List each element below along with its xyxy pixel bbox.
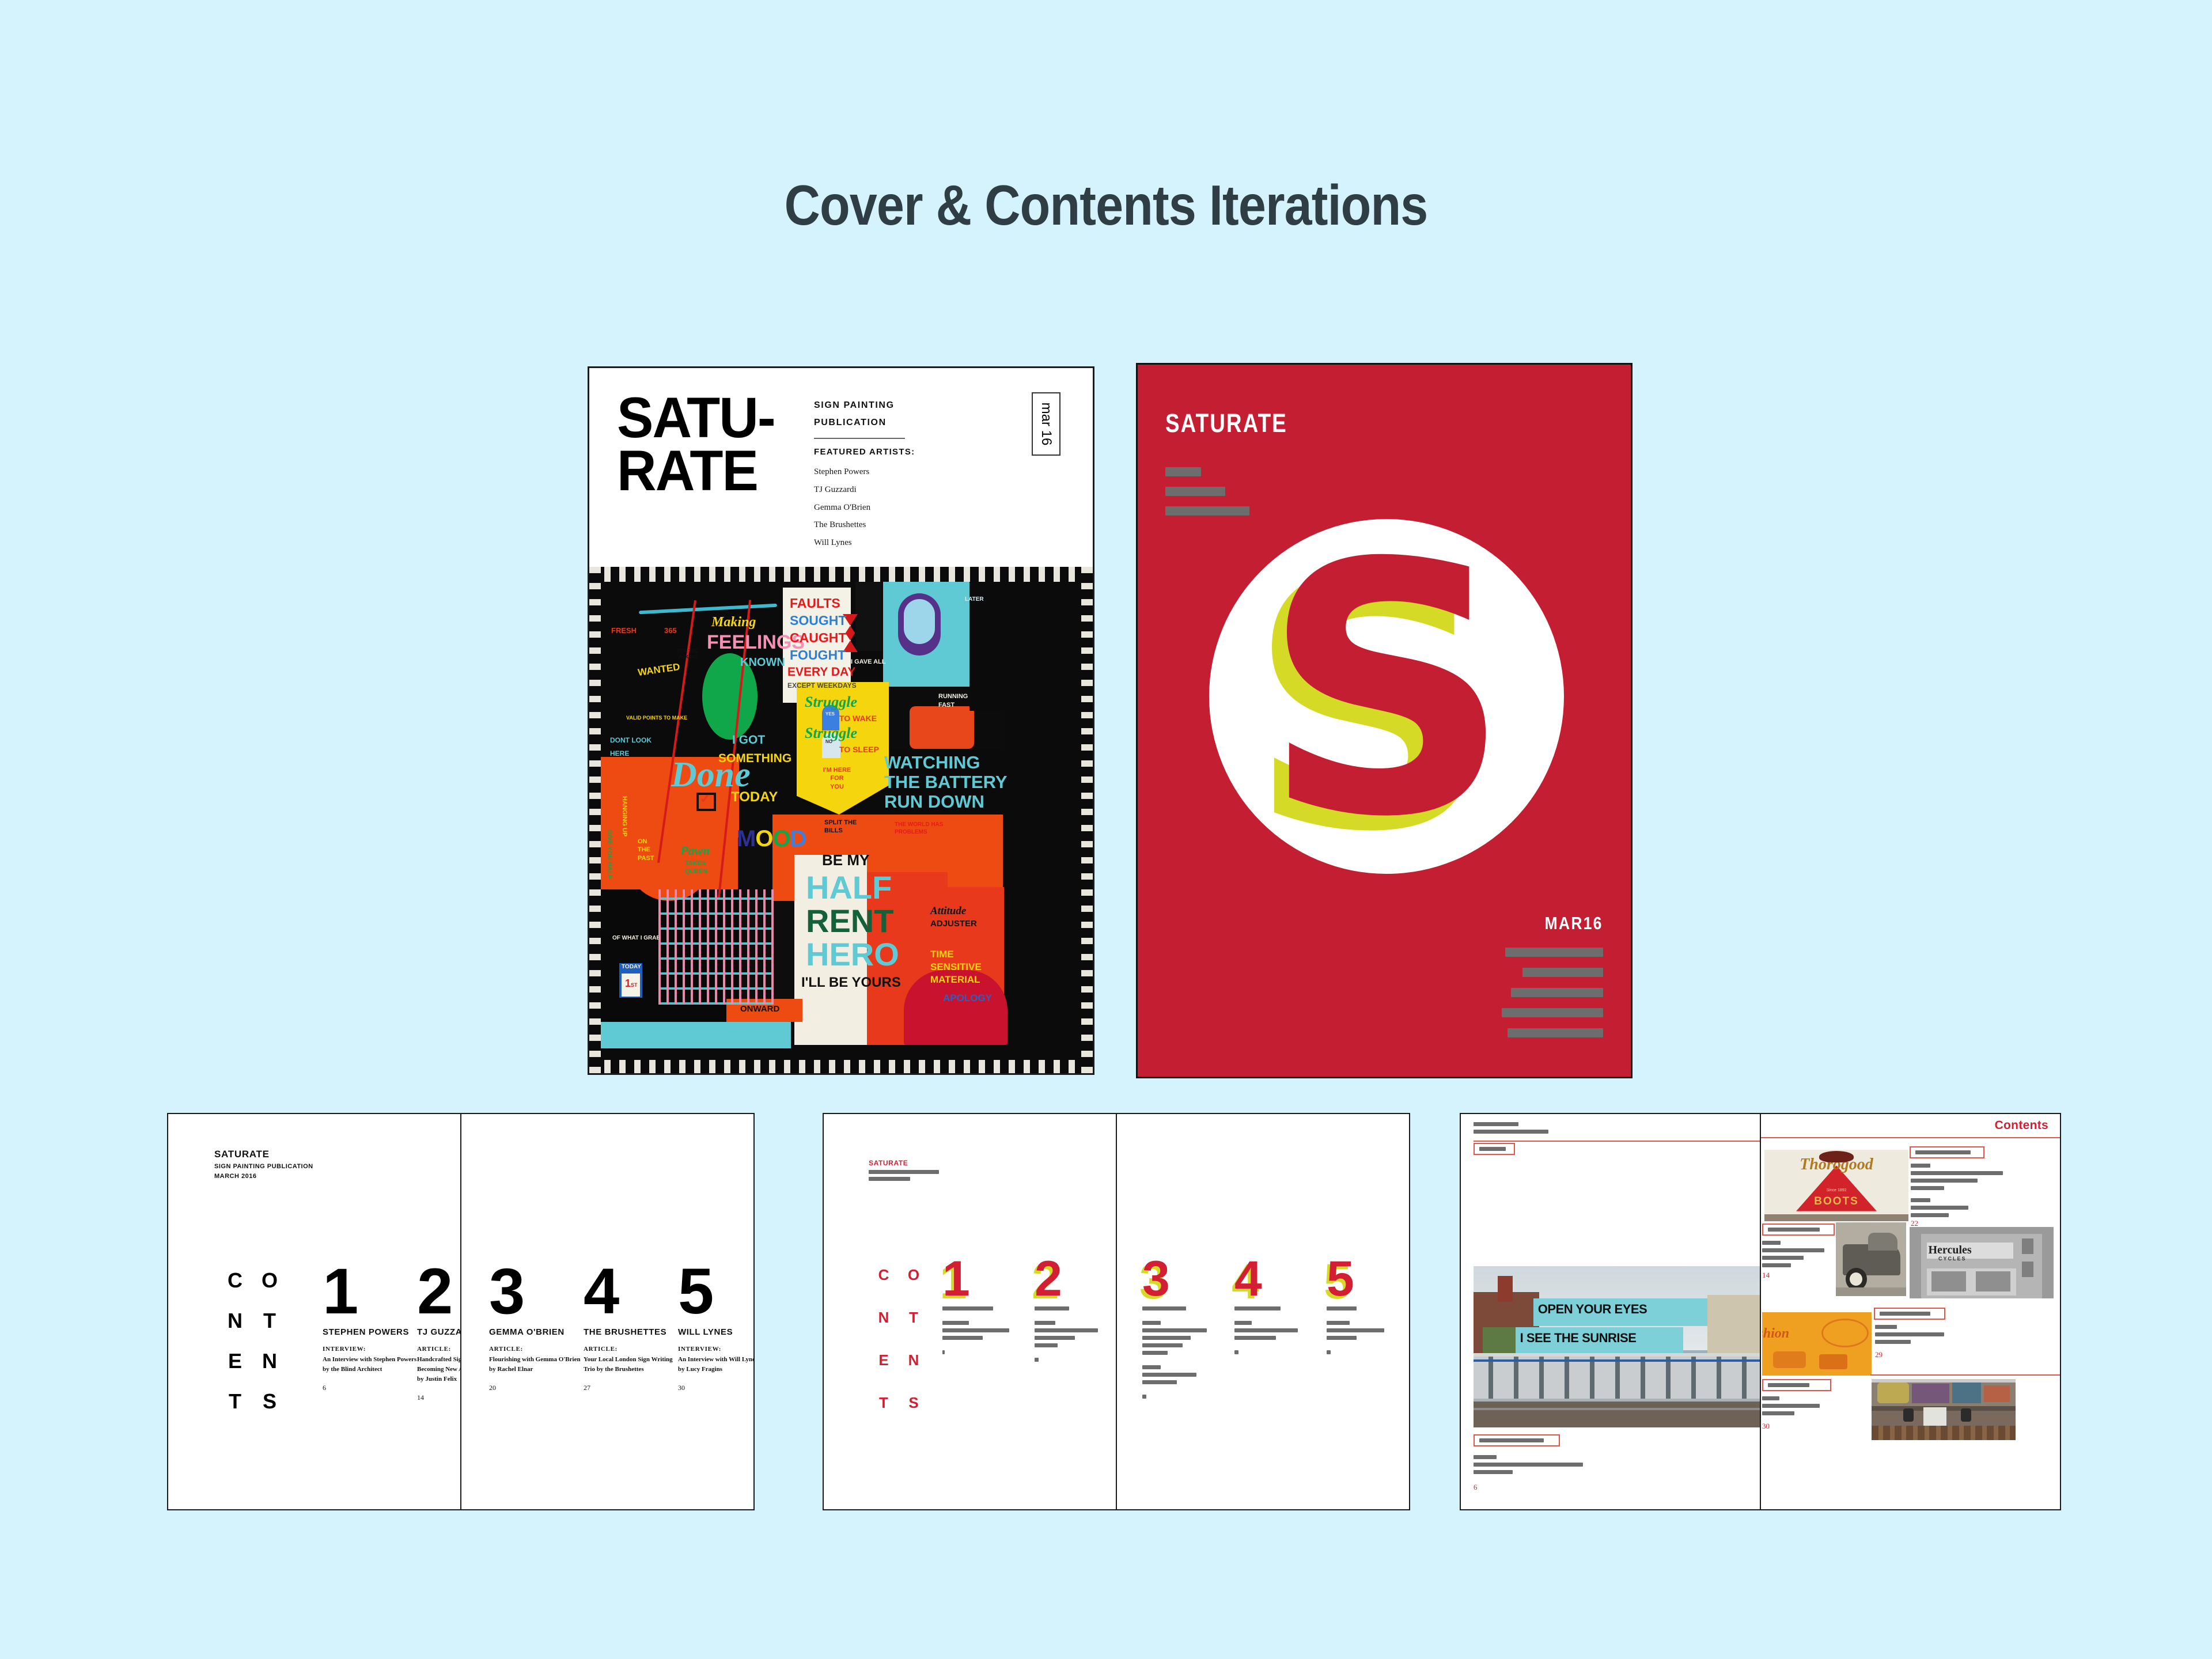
mural-text-line-1: OPEN YOUR EYES: [1538, 1302, 1647, 1317]
entry-placeholder-bars: [1035, 1306, 1117, 1362]
item-bars: [1762, 1241, 1824, 1271]
contents-letter: N: [218, 1309, 252, 1349]
entry-description: Flourishing with Gemma O'Brien by Rachel…: [489, 1355, 593, 1374]
spread-masthead: SATURATE SIGN PAINTING PUBLICATION MARCH…: [214, 1149, 313, 1180]
spread-two-left-page: SATURATE C O N T E N T S 1 2: [824, 1114, 1117, 1509]
entry-number: 3: [1142, 1258, 1246, 1301]
section-red-rule: [1870, 1374, 2060, 1376]
entry-description: An Interview with Will Lynes by Lucy Fra…: [678, 1355, 753, 1374]
item-label-box[interactable]: [1762, 1379, 1831, 1391]
artist-name: Will Lynes: [814, 534, 941, 552]
contents-entry[interactable]: 4 THE BRUSHETTES ARTICLE: Your Local Lon…: [584, 1264, 687, 1392]
photo-graffiti-wall: [1872, 1379, 2016, 1440]
contents-letter: E: [218, 1349, 252, 1389]
item-bars: [1911, 1164, 2003, 1221]
date-badge: mar 16: [1032, 392, 1060, 456]
page-number: 29: [1875, 1350, 1883, 1359]
featured-artists-label: FEATURED ARTISTS:: [814, 447, 941, 457]
page-title: Cover & Contents Iterations: [132, 173, 2079, 238]
hercules-sub: CYCLES: [1938, 1256, 1967, 1262]
spread-two-masthead: SATURATE: [869, 1159, 939, 1181]
contents-spread-red-wireframe[interactable]: SATURATE C O N T E N T S 1 2: [823, 1113, 1410, 1510]
entry-number: 5: [678, 1264, 753, 1319]
entry-number: 2: [417, 1264, 461, 1319]
entry-placeholder-bars: [942, 1306, 1046, 1354]
kicker-line-2: PUBLICATION: [814, 414, 941, 431]
entry-page-number: 14: [417, 1393, 461, 1402]
entry-name: TJ GUZZARDI: [417, 1327, 461, 1337]
mural-text-line-2: I SEE THE SUNRISE: [1520, 1331, 1637, 1346]
contents-entry[interactable]: 2: [1035, 1258, 1117, 1365]
photo-hercules-cycles-building: Hercules CYCLES: [1910, 1227, 2054, 1298]
hercules-text: Hercules: [1929, 1244, 1972, 1257]
entry-description: An Interview with Stephen Powers by the …: [323, 1355, 426, 1374]
entry-placeholder-bars: [1327, 1306, 1409, 1354]
entry-page-number: 20: [489, 1384, 593, 1392]
contents-letter: T: [218, 1389, 252, 1430]
boots-label: BOOTS: [1764, 1195, 1908, 1208]
contents-entry[interactable]: 4: [1234, 1258, 1338, 1358]
spread-two-right-page: 3 4 5: [1117, 1114, 1409, 1509]
artist-name: TJ Guzzardi: [814, 481, 941, 499]
contents-entry[interactable]: 3 GEMMA O'BRIEN ARTICLE: Flourishing wit…: [489, 1264, 593, 1392]
entry-description: Your Local London Sign Writing Trio by t…: [584, 1355, 687, 1374]
meta-divider: [814, 438, 905, 439]
contents-letter: C: [218, 1268, 252, 1309]
spread-one-right-page: 3 GEMMA O'BRIEN ARTICLE: Flourishing wit…: [461, 1114, 753, 1509]
contents-entry[interactable]: 3: [1142, 1258, 1246, 1402]
contents-entry[interactable]: 1: [942, 1258, 1046, 1358]
page-number: 14: [1762, 1271, 1770, 1280]
page-number: 30: [1762, 1422, 1770, 1431]
masthead-date: MARCH 2016: [214, 1173, 313, 1180]
contents-letter: S: [252, 1389, 287, 1430]
masthead-subtitle: SIGN PAINTING PUBLICATION: [214, 1163, 313, 1170]
entry-page-number: 27: [584, 1384, 687, 1392]
contents-letter: T: [869, 1394, 899, 1437]
entry-kind: ARTICLE:: [489, 1346, 593, 1353]
wordmark-line-1: SATU-: [617, 391, 775, 444]
photo-vintage-truck: [1836, 1222, 1906, 1296]
header-red-rule: [1474, 1141, 1761, 1142]
contents-letter: T: [252, 1309, 287, 1349]
photo-thorogood-boots-sign: Thorogood BOOTS Since 1892: [1764, 1150, 1908, 1221]
spread-three-right-page: Contents Thorogood BOOTS Since 1892 22: [1761, 1114, 2060, 1509]
masthead-title: SATURATE: [214, 1149, 313, 1160]
masthead-meta: SIGN PAINTING PUBLICATION FEATURED ARTIS…: [814, 397, 941, 552]
page-number: 6: [1474, 1483, 1478, 1492]
item-bars: [1875, 1325, 1944, 1347]
logo-circle: S: [1209, 519, 1564, 874]
spread-three-left-page: OPEN YOUR EYES I SEE THE SUNRISE 6: [1461, 1114, 1761, 1509]
section-label-box[interactable]: [1474, 1143, 1515, 1155]
contents-letter-grid: C O N T E N T S: [869, 1266, 929, 1437]
entry-number: 4: [1234, 1258, 1338, 1301]
entry-name: THE BRUSHETTES: [584, 1327, 687, 1337]
entry-number: 4: [584, 1264, 687, 1319]
cover-two-date-badge: MAR16: [1545, 913, 1603, 934]
entry-name: STEPHEN POWERS: [323, 1327, 426, 1337]
contents-entry[interactable]: 5 WILL LYNES INTERVIEW: An Interview wit…: [678, 1264, 753, 1392]
contents-letter: C: [869, 1266, 899, 1309]
artist-name: Stephen Powers: [814, 463, 941, 481]
wordmark-line-2: RATE: [617, 444, 775, 497]
entry-placeholder-bars: [1142, 1306, 1246, 1399]
contents-letter: N: [252, 1349, 287, 1389]
mural-collage-photo: FRESH 365 FOR THE ASKING Making FEELINGS…: [589, 567, 1093, 1075]
entry-description: Handcrafted Signs: Vintage Art Becoming …: [417, 1355, 461, 1384]
cover-two-top-placeholder-bars: [1165, 467, 1249, 526]
contents-entry[interactable]: 1 STEPHEN POWERS INTERVIEW: An Interview…: [323, 1264, 426, 1392]
spread-one-left-page: SATURATE SIGN PAINTING PUBLICATION MARCH…: [168, 1114, 461, 1509]
entry-placeholder-bars: [1234, 1306, 1338, 1354]
entry-number: 5: [1327, 1258, 1409, 1301]
entry-page-number: 30: [678, 1384, 753, 1392]
artist-name: The Brushettes: [814, 516, 941, 534]
entry-name: WILL LYNES: [678, 1327, 753, 1337]
contents-heading: Contents: [1995, 1119, 2048, 1132]
entry-name: GEMMA O'BRIEN: [489, 1327, 593, 1337]
entry-number: 3: [489, 1264, 593, 1319]
item-bars: [1762, 1396, 1820, 1419]
entry-page-number: 6: [323, 1384, 426, 1392]
cover-masthead: SATU- RATE SIGN PAINTING PUBLICATION FEA…: [589, 368, 1093, 567]
contents-letter: E: [869, 1351, 899, 1394]
left-page-bottom-bars: [1474, 1455, 1583, 1478]
contents-entry[interactable]: 5: [1327, 1258, 1409, 1358]
contents-letter: O: [899, 1266, 929, 1309]
contents-spread-typographic[interactable]: SATURATE SIGN PAINTING PUBLICATION MARCH…: [167, 1113, 755, 1510]
entry-kind: ARTICLE:: [417, 1346, 461, 1353]
contents-letter: S: [899, 1394, 929, 1437]
entry-number: 2: [1035, 1258, 1117, 1301]
item-label-box[interactable]: [1874, 1308, 1945, 1320]
photo-orange-fashion-poster: shion: [1762, 1312, 1872, 1376]
entry-number: 1: [323, 1264, 426, 1319]
contents-letter: N: [899, 1351, 929, 1394]
contents-entry[interactable]: 2 TJ GUZZARDI ARTICLE: Handcrafted Signs…: [417, 1264, 461, 1402]
contents-letter-grid: C O N T E N T S: [218, 1268, 287, 1430]
fashion-text: shion: [1762, 1326, 1789, 1342]
cover-wordmark: SATU- RATE: [617, 391, 775, 497]
entry-kind: INTERVIEW:: [323, 1346, 426, 1353]
photo-caption-box[interactable]: [1474, 1434, 1560, 1446]
item-label-box[interactable]: [1910, 1146, 1984, 1158]
masthead-title: SATURATE: [869, 1159, 939, 1167]
entry-kind: INTERVIEW:: [678, 1346, 753, 1353]
entry-kind: ARTICLE:: [584, 1346, 687, 1353]
kicker-line-1: SIGN PAINTING: [814, 397, 941, 414]
cover-iteration-white[interactable]: SATU- RATE SIGN PAINTING PUBLICATION FEA…: [588, 366, 1094, 1075]
artist-name: Gemma O'Brien: [814, 499, 941, 517]
cover-two-wordmark: SATURATE: [1165, 408, 1287, 438]
entry-number: 1: [942, 1258, 1046, 1301]
contents-letter: N: [869, 1309, 899, 1351]
left-page-top-bars: [1474, 1122, 1548, 1137]
contents-letter: T: [899, 1309, 929, 1351]
contents-spread-photo-grid[interactable]: OPEN YOUR EYES I SEE THE SUNRISE 6 Conte…: [1460, 1113, 2061, 1510]
date-badge-label: mar 16: [1038, 403, 1054, 446]
boots-since: Since 1892: [1764, 1188, 1908, 1192]
contents-letter: O: [252, 1268, 287, 1309]
logo-s-letter: S: [1262, 563, 1511, 819]
photo-elevated-train-mural: OPEN YOUR EYES I SEE THE SUNRISE: [1474, 1266, 1761, 1427]
cover-iteration-red[interactable]: SATURATE S MAR16: [1136, 363, 1633, 1078]
cover-two-bottom-placeholder-bars: [1502, 948, 1603, 1048]
header-red-rule: [1761, 1137, 2060, 1138]
item-label-box[interactable]: [1762, 1224, 1835, 1236]
